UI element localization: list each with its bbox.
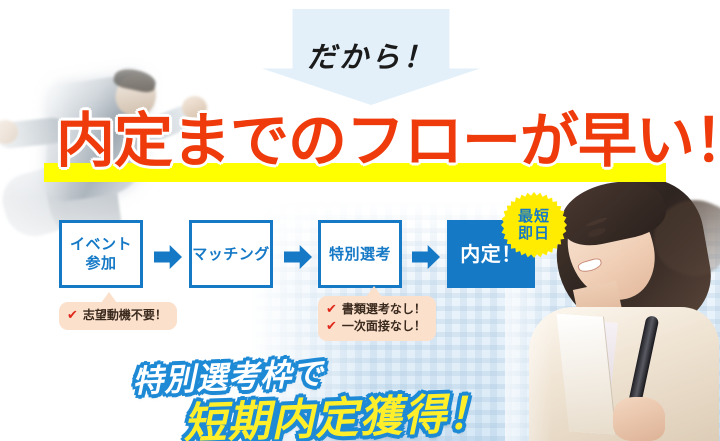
badge-line2: 即日 bbox=[518, 225, 550, 242]
flow-step-event-line1: イベント bbox=[70, 235, 132, 253]
callout-event-text: 志望動機不要！ bbox=[83, 307, 167, 324]
flow-step-event-line2: 参加 bbox=[85, 254, 116, 272]
callout-senko-text-2: 一次面接なし！ bbox=[342, 318, 426, 335]
badge-label: 最短 即日 bbox=[501, 192, 567, 258]
callout-senko-tail bbox=[366, 286, 382, 297]
flow-step-event: イベント 参加 bbox=[59, 220, 143, 288]
callout-senko-text-1: 書類選考なし！ bbox=[342, 301, 426, 318]
flow-step-event-label: イベント 参加 bbox=[70, 235, 132, 273]
tagline-line2: 短期内定獲得！ bbox=[182, 379, 492, 441]
flow-arrow-1-icon bbox=[154, 245, 182, 269]
flow-step-matching-label: マッチング bbox=[192, 245, 270, 264]
flow-step-special-screening-label: 特別選考 bbox=[329, 245, 391, 264]
callout-event-item: ✔ 志望動機不要！ bbox=[67, 307, 167, 324]
callout-senko-item-2: ✔ 一次面接なし！ bbox=[326, 318, 426, 335]
check-icon: ✔ bbox=[326, 318, 337, 335]
flow-arrow-2-icon bbox=[284, 245, 312, 269]
flow-step-matching: マッチング bbox=[189, 220, 273, 288]
check-icon: ✔ bbox=[326, 301, 337, 318]
callout-event-tail bbox=[101, 292, 117, 303]
recruitment-banner: だから！ 内定までのフローが早い！ イベント 参加 マッチング 特別選考 内定！… bbox=[0, 0, 720, 441]
callout-senko: ✔ 書類選考なし！ ✔ 一次面接なし！ bbox=[318, 296, 436, 341]
flow-step-special-screening: 特別選考 bbox=[318, 220, 402, 288]
callout-event: ✔ 志望動機不要！ bbox=[59, 302, 177, 330]
process-flow: イベント 参加 マッチング 特別選考 内定！ bbox=[0, 0, 720, 441]
flow-arrow-3-icon bbox=[412, 245, 440, 269]
check-icon: ✔ bbox=[67, 307, 78, 324]
callout-senko-item-1: ✔ 書類選考なし！ bbox=[326, 301, 426, 318]
status-badge: 最短 即日 bbox=[501, 192, 567, 258]
badge-line1: 最短 bbox=[518, 208, 550, 225]
